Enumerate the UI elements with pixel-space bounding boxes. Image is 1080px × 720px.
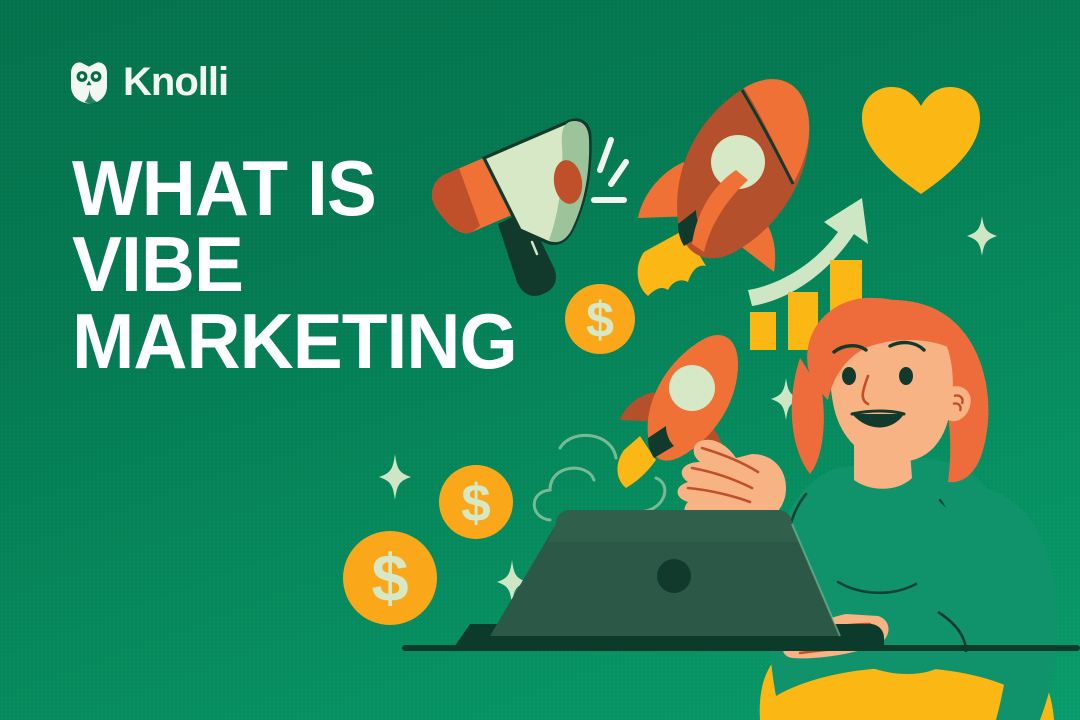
laptop-logo-icon bbox=[657, 559, 691, 593]
dollar-coin-icon: $ bbox=[342, 530, 438, 626]
desk-line bbox=[402, 644, 1080, 654]
sparkle-icon bbox=[378, 454, 412, 500]
page-title: WHAT IS VIBE MARKETING bbox=[72, 150, 517, 379]
hero-banner: Knolli WHAT IS VIBE MARKETING bbox=[0, 0, 1080, 720]
svg-text:$: $ bbox=[586, 292, 614, 348]
owl-icon bbox=[68, 60, 110, 104]
sparkle-icon bbox=[966, 216, 998, 256]
headline-line-1: WHAT IS bbox=[72, 150, 517, 226]
headline-line-3: MARKETING bbox=[72, 303, 517, 379]
brand-logo[interactable]: Knolli bbox=[68, 60, 228, 104]
svg-text:$: $ bbox=[371, 541, 408, 616]
eye-right bbox=[899, 367, 913, 385]
brand-name: Knolli bbox=[123, 62, 228, 102]
dollar-coin-icon: $ bbox=[564, 283, 636, 355]
heart-icon bbox=[860, 86, 982, 196]
laptop-icon bbox=[448, 504, 888, 664]
headline-line-2: VIBE bbox=[72, 226, 517, 302]
eye-left bbox=[842, 367, 856, 385]
